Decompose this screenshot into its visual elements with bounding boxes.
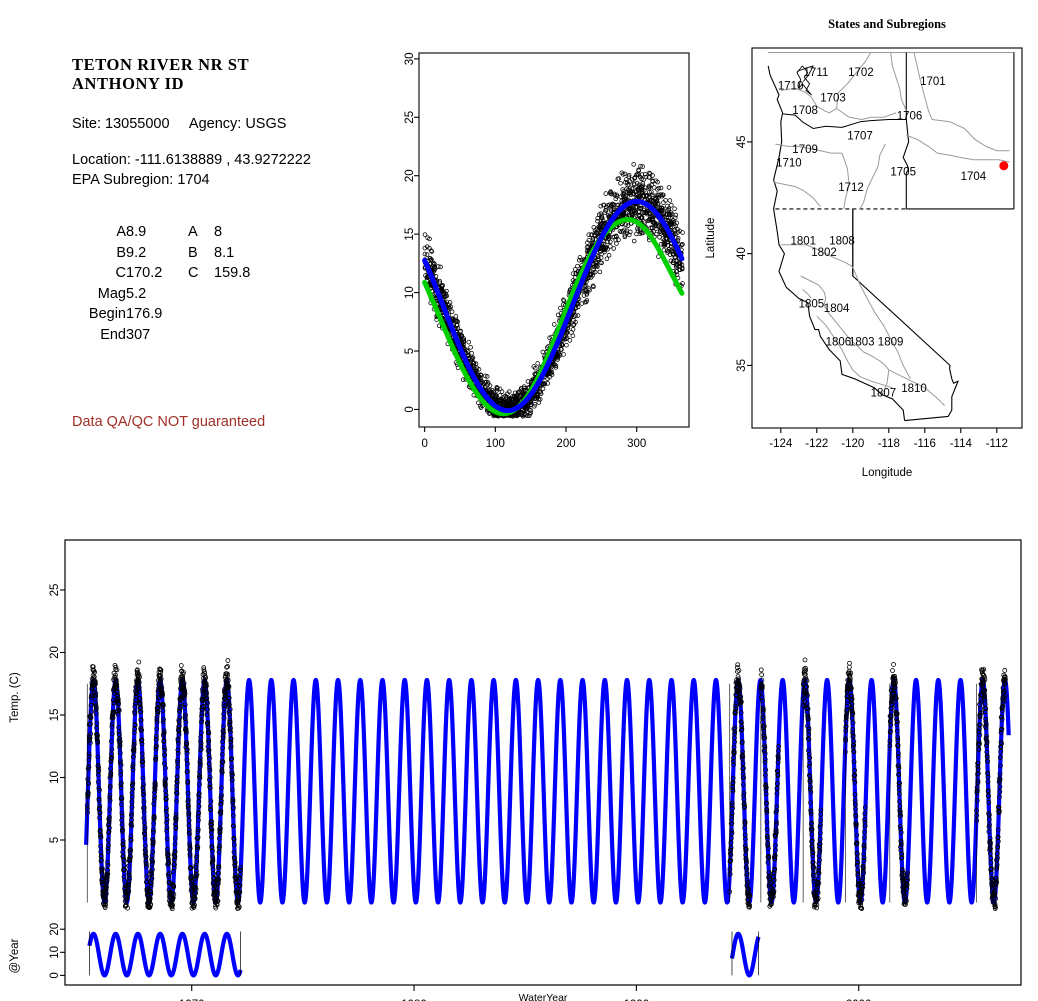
svg-text:20: 20 <box>49 923 61 936</box>
svg-text:30: 30 <box>404 52 416 65</box>
stat-label-2: C <box>188 263 214 284</box>
stat-value-2 <box>214 304 250 325</box>
qaqc-warning: Data QA/QC NOT guaranteed <box>72 414 265 430</box>
svg-text:15: 15 <box>404 228 416 241</box>
svg-text:WaterYear: WaterYear <box>519 992 568 1001</box>
svg-text:40: 40 <box>736 247 748 260</box>
svg-text:-118: -118 <box>878 438 900 450</box>
states-subregions-map: States and Subregions1711170217011710170… <box>700 12 1038 492</box>
svg-text:1707: 1707 <box>847 131 873 143</box>
stat-label-2 <box>188 284 214 305</box>
svg-text:1710: 1710 <box>776 157 802 169</box>
svg-text:1711: 1711 <box>804 67 829 79</box>
table-row: B 9.2 B 8.1 <box>72 243 250 264</box>
svg-text:States and Subregions: States and Subregions <box>828 17 946 31</box>
stat-label: End <box>72 325 126 346</box>
stat-value: 176.9 <box>126 304 188 325</box>
svg-text:100: 100 <box>486 438 505 450</box>
svg-text:-116: -116 <box>914 438 936 450</box>
table-row: Mag 5.2 <box>72 284 250 305</box>
seasonal-scatter-chart: 0510152025300100200300 <box>392 40 702 480</box>
svg-text:5: 5 <box>404 348 416 354</box>
stat-label: Mag <box>72 284 126 305</box>
table-row: Begin 176.9 <box>72 304 250 325</box>
svg-text:45: 45 <box>736 135 748 148</box>
svg-text:25: 25 <box>404 111 416 124</box>
svg-text:Latitude: Latitude <box>705 218 717 259</box>
svg-text:1703: 1703 <box>820 93 846 105</box>
stat-value-2: 159.8 <box>214 263 250 284</box>
svg-text:5: 5 <box>49 837 61 843</box>
svg-text:1803: 1803 <box>849 336 875 348</box>
svg-text:300: 300 <box>627 438 646 450</box>
svg-text:1710: 1710 <box>778 80 804 92</box>
stat-value-2 <box>214 325 250 346</box>
stat-label-2 <box>188 325 214 346</box>
svg-text:-112: -112 <box>986 438 1008 450</box>
stat-value: 8.9 <box>126 222 188 243</box>
svg-text:1804: 1804 <box>824 303 850 315</box>
svg-text:1805: 1805 <box>799 298 825 310</box>
svg-text:@Year: @Year <box>9 938 21 973</box>
stats-table: A 8.9 A 8 B 9.2 B 8.1 C 170.2 C 159.8 Ma… <box>72 222 402 345</box>
svg-text:25: 25 <box>49 584 61 597</box>
stat-label: Begin <box>72 304 126 325</box>
svg-text:1701: 1701 <box>920 76 946 88</box>
stat-value-2 <box>214 284 250 305</box>
site-subregion-line: EPA Subregion: 1704 <box>72 171 402 190</box>
svg-text:200: 200 <box>556 438 575 450</box>
stat-value: 307 <box>126 325 188 346</box>
table-row: C 170.2 C 159.8 <box>72 263 250 284</box>
svg-text:15: 15 <box>49 709 61 722</box>
stat-value: 170.2 <box>126 263 188 284</box>
svg-text:1705: 1705 <box>890 166 916 178</box>
stat-label-2 <box>188 304 214 325</box>
svg-text:1807: 1807 <box>871 388 897 400</box>
svg-text:1709: 1709 <box>792 144 818 156</box>
svg-text:1702: 1702 <box>848 67 874 79</box>
stat-label: A <box>72 222 126 243</box>
svg-text:20: 20 <box>49 646 61 659</box>
svg-text:-114: -114 <box>950 438 973 450</box>
svg-text:35: 35 <box>736 359 748 372</box>
svg-text:1708: 1708 <box>792 105 818 117</box>
svg-text:-120: -120 <box>841 438 864 450</box>
stat-value: 9.2 <box>126 243 188 264</box>
site-info-panel: TETON RIVER NR ST ANTHONY ID Site: 13055… <box>72 55 402 345</box>
svg-text:1802: 1802 <box>811 247 837 259</box>
svg-text:0: 0 <box>404 406 416 412</box>
stat-label-2: A <box>188 222 214 243</box>
svg-text:Longitude: Longitude <box>862 467 913 479</box>
svg-text:-124: -124 <box>769 438 793 450</box>
stat-label-2: B <box>188 243 214 264</box>
stat-value: 5.2 <box>126 284 188 305</box>
svg-text:0: 0 <box>421 438 427 450</box>
svg-text:1706: 1706 <box>897 111 923 123</box>
svg-text:Temp. (C): Temp. (C) <box>9 672 21 723</box>
svg-text:-122: -122 <box>805 438 828 450</box>
svg-text:1810: 1810 <box>901 383 927 395</box>
table-row: End 307 <box>72 325 250 346</box>
site-location-line: Location: -111.6138889 , 43.9272222 <box>72 151 402 170</box>
svg-text:1806: 1806 <box>826 336 852 348</box>
timeseries-chart: 01020@Year5101520251970198019902000Temp.… <box>0 525 1038 1001</box>
svg-text:0: 0 <box>49 972 61 978</box>
svg-text:1712: 1712 <box>838 182 864 194</box>
page-title: TETON RIVER NR ST ANTHONY ID <box>72 55 402 93</box>
svg-text:20: 20 <box>404 169 416 182</box>
site-agency-line: Site: 13055000 Agency: USGS <box>72 115 402 134</box>
svg-text:10: 10 <box>49 946 61 959</box>
svg-text:10: 10 <box>404 286 416 299</box>
stat-value-2: 8 <box>214 222 250 243</box>
svg-text:1809: 1809 <box>878 336 904 348</box>
stat-label: B <box>72 243 126 264</box>
table-row: A 8.9 A 8 <box>72 222 250 243</box>
stat-value-2: 8.1 <box>214 243 250 264</box>
stat-label: C <box>72 263 126 284</box>
svg-text:10: 10 <box>49 771 61 784</box>
svg-text:1704: 1704 <box>961 171 987 183</box>
